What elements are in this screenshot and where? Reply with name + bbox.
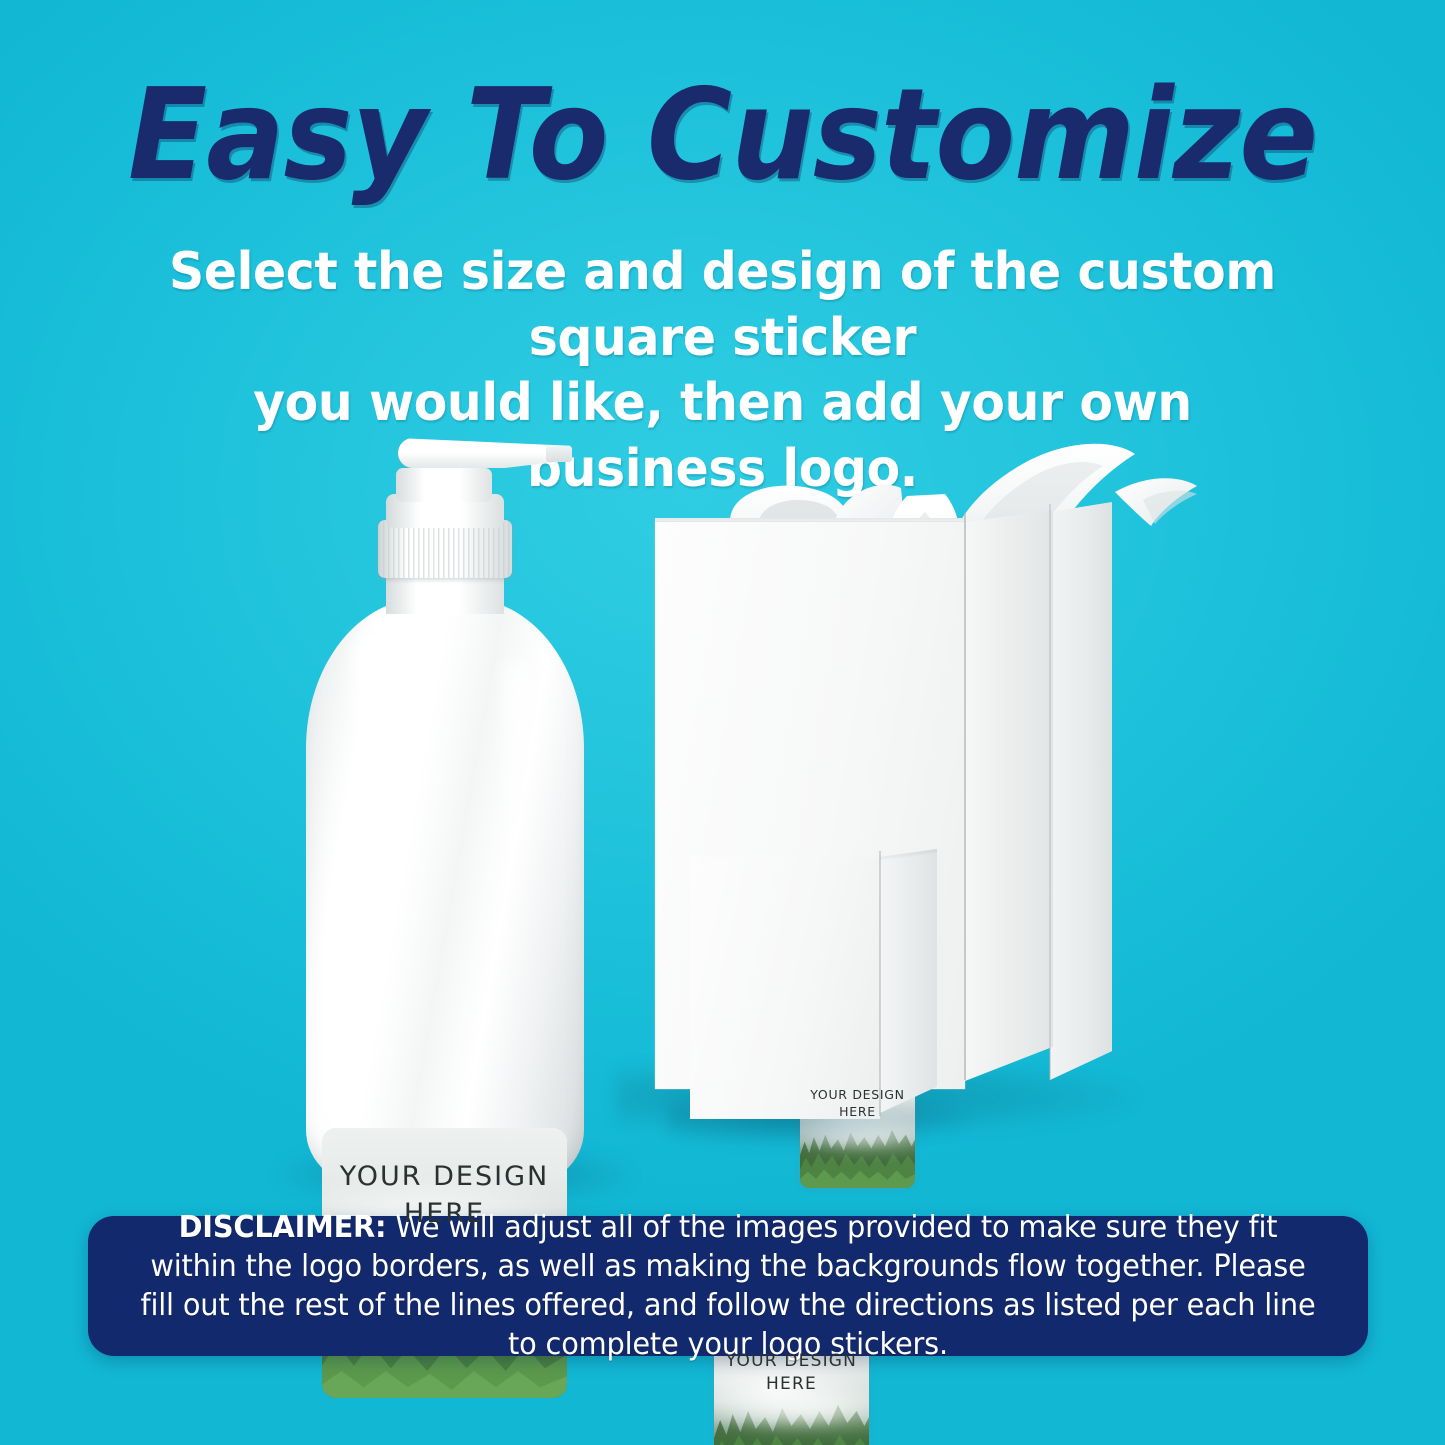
gift-box-seam (964, 512, 966, 1080)
product-mockup-scene: YOUR DESIGN HERE YOUR DESIGN HERE (0, 380, 1445, 1210)
sticker-placeholder-text: YOUR DESIGN HERE (714, 1350, 869, 1397)
pump-stem (396, 468, 492, 502)
subtitle-line-1: Select the size and design of the custom… (134, 240, 1312, 371)
small-box-side-panel (880, 849, 937, 1113)
bottle-highlight-right (504, 660, 530, 950)
small-box-front-panel (690, 857, 880, 1119)
gift-box-seam-outer (1049, 504, 1051, 1080)
disclaimer-banner: DISCLAIMER: We will adjust all of the im… (88, 1216, 1368, 1356)
sticker-placeholder-text: YOUR DESIGN HERE (322, 1158, 567, 1233)
gift-box-side-panel (965, 510, 1053, 1081)
promo-graphic: Easy To Customize Select the size and de… (0, 0, 1445, 1445)
page-title: Easy To Customize (58, 72, 1387, 198)
pump-bottle (290, 420, 620, 1210)
sticker-placeholder-text: YOUR DESIGN HERE (800, 1086, 915, 1121)
bottle-body (306, 598, 584, 1188)
gift-box-back-panel (1050, 502, 1112, 1080)
small-box-seam (879, 851, 881, 1116)
pump-nozzle (398, 438, 570, 468)
pump-ribbed-collar (378, 520, 512, 578)
bottle-highlight-left (354, 632, 388, 962)
disclaimer-text: DISCLAIMER: We will adjust all of the im… (137, 1208, 1320, 1364)
pump-nozzle-tip (546, 446, 572, 462)
